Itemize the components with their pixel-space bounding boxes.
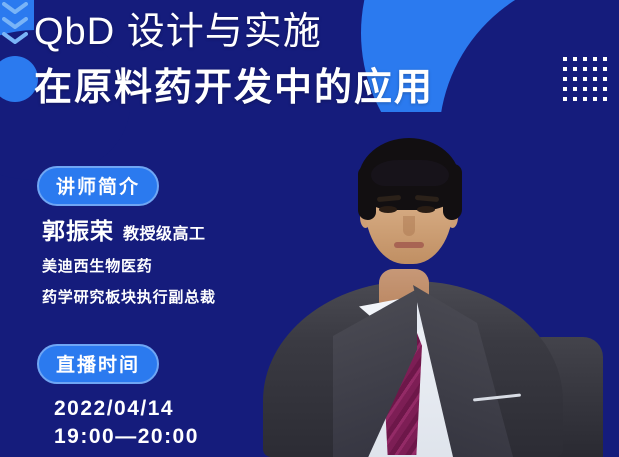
broadcast-date: 2022/04/14 — [54, 395, 199, 423]
speaker-portrait-photo — [255, 120, 619, 457]
speaker-details: 郭振荣 教授级高工 美迪西生物医药 药学研究板块执行副总裁 — [42, 212, 216, 317]
chevron-down-icon — [2, 32, 32, 45]
chevron-down-icon — [2, 17, 32, 30]
speaker-role: 药学研究板块执行副总裁 — [42, 286, 216, 307]
chevron-down-icon — [2, 2, 32, 15]
speaker-name: 郭振荣 — [42, 212, 114, 246]
broadcast-time-details: 2022/04/14 19:00—20:00 — [54, 395, 199, 451]
title-line-2: 在原料药开发中的应用 — [34, 60, 434, 116]
speaker-rank: 教授级高工 — [123, 220, 206, 244]
dot-grid-icon — [560, 54, 610, 104]
chevron-stack — [2, 2, 32, 45]
speaker-name-row: 郭振荣 教授级高工 — [42, 212, 216, 246]
title-line-1: QbD 设计与实施 — [34, 4, 434, 60]
poster-title: QbD 设计与实施 在原料药开发中的应用 — [34, 4, 434, 116]
webinar-poster: QbD 设计与实施 在原料药开发中的应用 讲师简介 郭振荣 教授级高工 美迪西生… — [0, 0, 619, 457]
time-section-badge: 直播时间 — [37, 344, 159, 384]
speaker-section-badge: 讲师简介 — [37, 166, 159, 206]
speaker-company: 美迪西生物医药 — [42, 255, 216, 276]
broadcast-time-range: 19:00—20:00 — [54, 423, 199, 451]
